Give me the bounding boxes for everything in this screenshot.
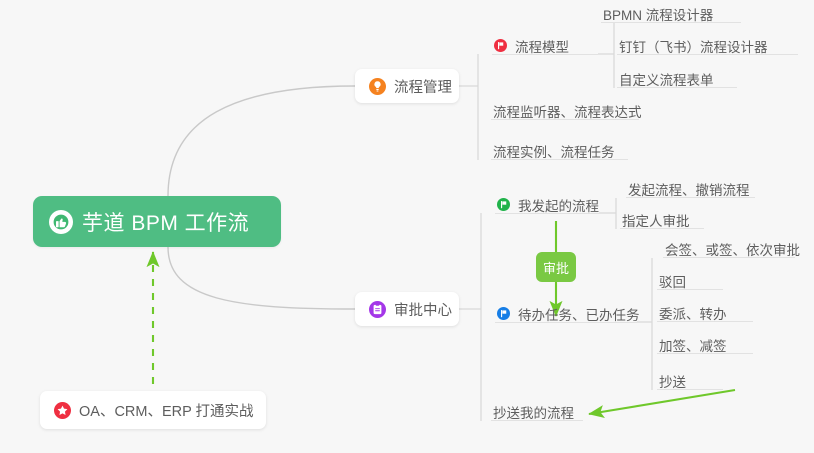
node-label: 抄送我的流程 (493, 402, 574, 422)
flag-icon (497, 198, 510, 211)
node-my-started-flows[interactable]: 我发起的流程 (495, 199, 599, 214)
node-start-cancel-flow[interactable]: 发起流程、撤销流程 (626, 183, 755, 198)
node-label: 指定人审批 (622, 210, 690, 230)
node-process-management[interactable]: 流程管理 (355, 69, 459, 103)
node-delegate-transfer[interactable]: 委派、转办 (657, 307, 753, 322)
node-process-model[interactable]: 流程模型 (492, 40, 598, 55)
node-cc[interactable]: 抄送 (657, 375, 723, 390)
node-label: OA、CRM、ERP 打通实战 (79, 400, 254, 421)
node-cc-to-me-flows[interactable]: 抄送我的流程 (491, 406, 583, 421)
clipboard-icon (369, 301, 386, 318)
link-root-to-approval-center (168, 247, 355, 309)
node-label: 我发起的流程 (518, 195, 599, 215)
node-label: 流程监听器、流程表达式 (493, 101, 642, 121)
arrow-cc-to-ccflow (589, 390, 735, 414)
node-label: 驳回 (659, 271, 686, 291)
node-add-remove-sign[interactable]: 加签、减签 (657, 339, 753, 354)
node-todo-done-tasks[interactable]: 待办任务、已办任务 (495, 308, 637, 323)
node-assignee-approval[interactable]: 指定人审批 (620, 214, 704, 229)
node-label: 审批中心 (394, 299, 452, 320)
link-root-to-process-management (168, 86, 355, 196)
node-reject[interactable]: 驳回 (657, 275, 723, 290)
node-integration-practice[interactable]: OA、CRM、ERP 打通实战 (40, 391, 266, 429)
node-label: 发起流程、撤销流程 (628, 179, 750, 199)
node-label: 待办任务、已办任务 (518, 304, 640, 324)
lightbulb-icon (369, 78, 386, 95)
thumbs-up-icon (49, 210, 73, 234)
node-process-instance[interactable]: 流程实例、流程任务 (491, 145, 628, 160)
node-label: 自定义流程表单 (619, 69, 714, 89)
node-label: 委派、转办 (659, 303, 727, 323)
approval-pill-label: 审批 (536, 252, 576, 282)
star-icon (54, 402, 71, 419)
node-process-listener[interactable]: 流程监听器、流程表达式 (491, 105, 639, 120)
node-label: 流程模型 (515, 36, 569, 56)
node-countersign[interactable]: 会签、或签、依次审批 (663, 243, 795, 258)
flag-icon (497, 307, 510, 320)
node-label: 流程管理 (394, 76, 452, 97)
node-label: 流程实例、流程任务 (493, 141, 615, 161)
node-label: 抄送 (659, 371, 686, 391)
node-dingtalk-designer[interactable]: 钉钉（飞书）流程设计器 (617, 40, 798, 55)
node-approval-center[interactable]: 审批中心 (355, 292, 459, 326)
node-label: BPMN 流程设计器 (603, 4, 713, 24)
flag-icon (494, 39, 507, 52)
mindmap-canvas: 芋道 BPM 工作流 流程管理 流程模型 BPMN 流程设计器 钉钉（飞书）流程 (0, 0, 814, 453)
root-node[interactable]: 芋道 BPM 工作流 (33, 196, 281, 247)
node-bpmn-designer[interactable]: BPMN 流程设计器 (601, 8, 741, 23)
approval-pill-text: 审批 (543, 258, 569, 277)
node-label: 加签、减签 (659, 335, 727, 355)
node-label: 会签、或签、依次审批 (665, 239, 800, 259)
node-label: 钉钉（飞书）流程设计器 (619, 36, 768, 56)
node-custom-form[interactable]: 自定义流程表单 (617, 73, 737, 88)
root-label: 芋道 BPM 工作流 (82, 207, 249, 237)
